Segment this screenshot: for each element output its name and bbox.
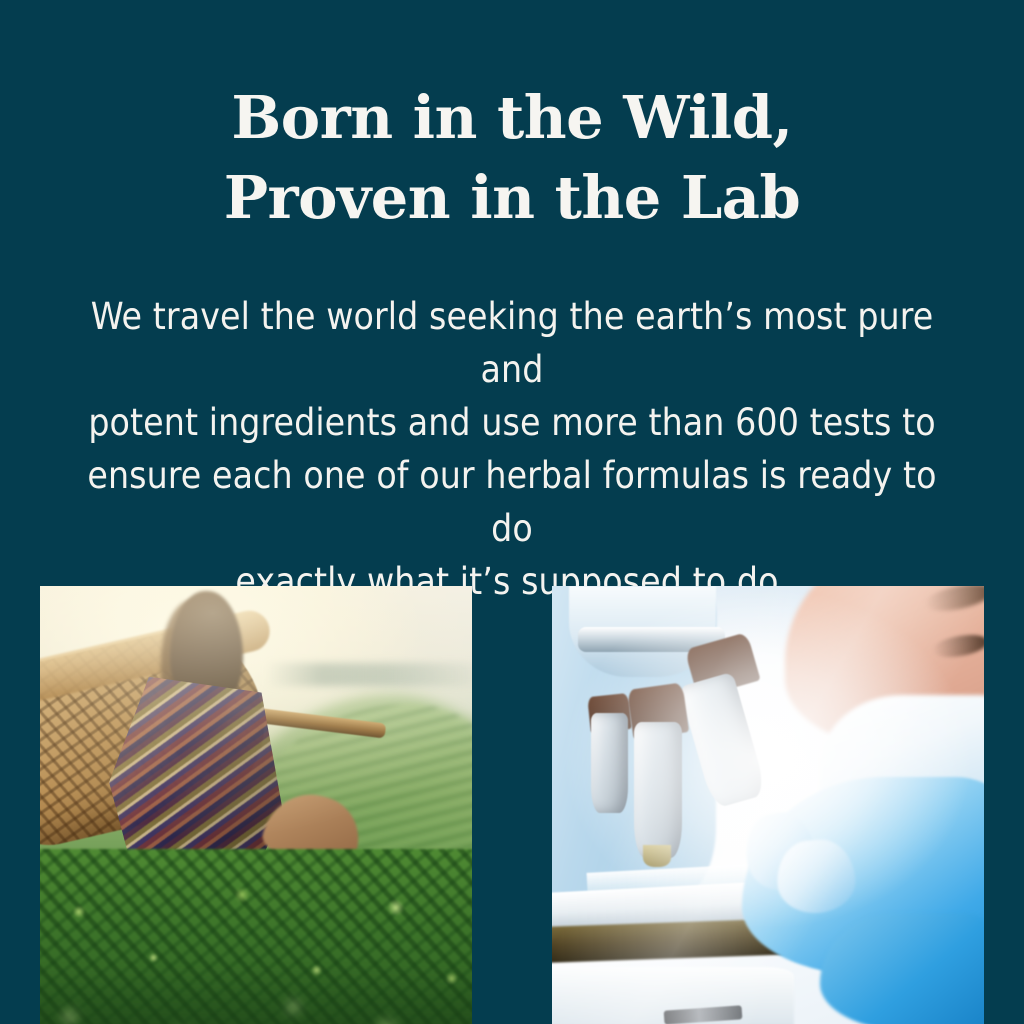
distant-skyline — [265, 663, 472, 686]
lab-microscope-photo — [552, 586, 984, 1024]
glove-lower-hand — [820, 913, 984, 1024]
objective-lens-tip — [643, 845, 671, 868]
promo-card: Born in the Wild, Proven in the Lab We t… — [0, 0, 1024, 1024]
subcopy-paragraph: We travel the world seeking the earth’s … — [65, 238, 960, 608]
page-title: Born in the Wild, Proven in the Lab — [68, 0, 956, 238]
objective-lens-2 — [634, 722, 682, 858]
foreground-foliage — [40, 967, 472, 1024]
tea-harvester-photo — [40, 586, 472, 1024]
objective-lens-1 — [591, 713, 628, 813]
text-panel: Born in the Wild, Proven in the Lab We t… — [0, 0, 1024, 570]
photo-strip — [0, 570, 1024, 1024]
